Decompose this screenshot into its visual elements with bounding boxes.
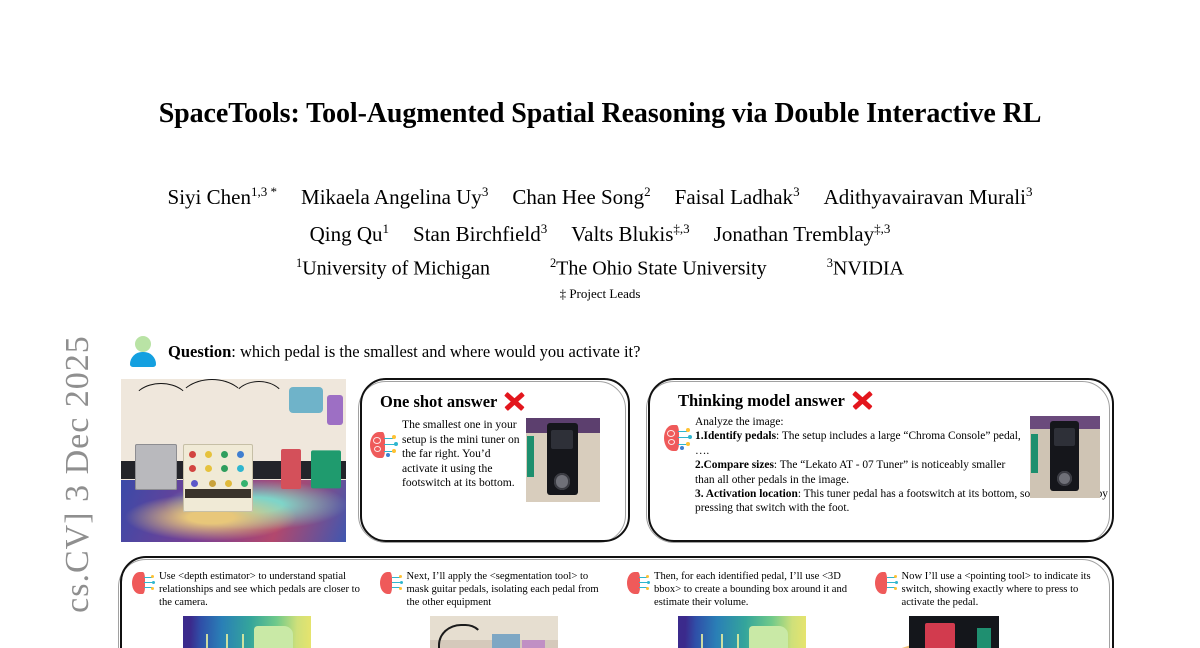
author-row-2: Qing Qu1Stan Birchfield3Valts Blukis‡,3J… <box>0 213 1200 250</box>
circuit-node <box>394 442 398 446</box>
pedal-red <box>281 449 301 489</box>
tuner-screen <box>551 430 573 449</box>
step-label: 1.Identify pedals <box>695 430 776 442</box>
brain-lobe <box>370 432 385 458</box>
circuit-node <box>894 575 897 578</box>
circuit-node <box>686 442 690 446</box>
brain-icon <box>875 572 897 594</box>
tuner-device <box>1050 421 1079 492</box>
tool-text: Then, for each identified pedal, I’ll us… <box>654 570 857 610</box>
tuner-photo <box>1030 416 1100 498</box>
circuit-node <box>895 581 898 584</box>
affiliation: 2The Ohio State University <box>550 256 767 281</box>
author-list: Siyi Chen1,3 *Mikaela Angelina Uy3Chan H… <box>0 176 1200 250</box>
brain-icon <box>627 572 649 594</box>
step-label: 2.Compare sizes <box>695 459 774 471</box>
streak <box>721 634 723 648</box>
thinking-text: Analyze the image: 1.Identify pedals: Th… <box>695 415 1025 516</box>
knob <box>221 451 228 458</box>
one-shot-title: One shot answer <box>380 392 497 411</box>
one-shot-body: The smallest one in your setup is the mi… <box>362 414 628 502</box>
knob <box>241 480 248 487</box>
affiliation-list: 1University of Michigan2The Ohio State U… <box>0 256 1200 281</box>
tuner-footswitch <box>1057 471 1072 486</box>
pointing-image <box>909 616 999 648</box>
streak <box>226 634 228 648</box>
thinking-intro: Analyze the image: <box>695 415 1025 429</box>
pedal-chroma-console <box>183 444 253 512</box>
tool-step-pointing: Now I’ll use a <pointing tool> to indica… <box>865 558 1113 648</box>
step-label: 3. Activation location <box>695 488 798 500</box>
knob <box>205 451 212 458</box>
affiliation: 1University of Michigan <box>296 256 490 281</box>
knob <box>189 465 196 472</box>
tool-head: Now I’ll use a <pointing tool> to indica… <box>875 570 1105 610</box>
question-label: Question <box>168 342 231 361</box>
author: Jonathan Tremblay‡,3 <box>714 222 891 246</box>
page-title: SpaceTools: Tool-Augmented Spatial Reaso… <box>0 98 1200 130</box>
question-body: : which pedal is the smallest and where … <box>231 342 640 361</box>
circuit-node <box>646 587 649 590</box>
segment-mask <box>522 640 545 648</box>
author: Adithyavairavan Murali3 <box>824 185 1033 209</box>
thinking-title: Thinking model answer <box>678 391 845 410</box>
tool-step-bbox: Then, for each identified pedal, I’ll us… <box>617 558 865 648</box>
green-strip <box>1031 434 1037 473</box>
circuit-node <box>646 575 649 578</box>
author: Qing Qu1 <box>310 222 389 246</box>
red-x-icon <box>501 388 527 414</box>
thinking-model-answer-card: Thinking model answer Analyze the image:… <box>648 378 1114 542</box>
depth-map-image <box>678 616 806 648</box>
streak <box>701 634 703 648</box>
tool-head: Use <depth estimator> to understand spat… <box>132 570 362 610</box>
tool-text: Now I’ll use a <pointing tool> to indica… <box>902 570 1105 610</box>
brain-fold <box>373 437 381 444</box>
circuit-node <box>647 581 650 584</box>
tool-grid: Use <depth estimator> to understand spat… <box>122 558 1112 648</box>
segmentation-image <box>430 616 558 648</box>
one-shot-answer-card: One shot answer The smallest one in your… <box>360 378 630 542</box>
tool-text: Next, I’ll apply the <segmentation tool>… <box>407 570 610 610</box>
pedal-teal-box <box>289 387 323 413</box>
brain-icon <box>370 432 396 458</box>
display-strip <box>185 489 251 498</box>
segment-blob <box>749 626 787 648</box>
affiliation: 3NVIDIA <box>827 256 904 281</box>
segment-mask <box>492 634 520 648</box>
question-row: Question: which pedal is the smallest an… <box>128 336 640 368</box>
author: Chan Hee Song2 <box>512 185 650 209</box>
knob <box>221 465 228 472</box>
tool-text: Use <depth estimator> to understand spat… <box>159 570 362 610</box>
tuner-screen <box>1054 428 1075 446</box>
author: Valts Blukis‡,3 <box>571 222 689 246</box>
circuit-node <box>152 581 155 584</box>
thinking-header: Thinking model answer <box>650 380 1112 413</box>
knob <box>189 451 196 458</box>
knob <box>191 480 198 487</box>
pedalboard-photo <box>121 379 346 542</box>
brain-icon <box>380 572 402 594</box>
user-avatar-icon <box>128 336 158 368</box>
pedal-silver <box>135 444 177 490</box>
streak <box>242 634 244 648</box>
green-strip <box>977 628 991 648</box>
brain-fold <box>374 446 381 452</box>
knob <box>205 465 212 472</box>
streak <box>737 634 739 648</box>
pedal-green <box>311 450 341 488</box>
circuit-node <box>399 575 402 578</box>
knob <box>209 480 216 487</box>
tool-chain-card: Use <depth estimator> to understand spat… <box>120 556 1114 648</box>
circuit-node <box>392 435 396 439</box>
one-shot-header: One shot answer <box>362 380 628 414</box>
project-leads-footnote: ‡ Project Leads <box>0 286 1200 302</box>
brain-lobe <box>627 572 640 594</box>
circuit-node <box>894 587 897 590</box>
tuner-photo <box>526 418 600 502</box>
author: Faisal Ladhak3 <box>675 185 800 209</box>
segment-blob <box>254 626 292 648</box>
circuit-node <box>386 453 390 457</box>
circuit-node <box>151 575 154 578</box>
circuit-node <box>151 587 154 590</box>
depth-map-image <box>183 616 311 648</box>
author: Mikaela Angelina Uy3 <box>301 185 488 209</box>
circuit-node <box>686 428 690 432</box>
green-strip <box>527 436 534 476</box>
circuit-node <box>392 449 396 453</box>
avatar-body <box>130 352 156 367</box>
brain-lobe <box>380 572 393 594</box>
cable <box>231 381 287 427</box>
cable-outline <box>438 624 484 648</box>
author: Siyi Chen1,3 * <box>168 185 277 209</box>
arxiv-stamp: cs.CV] 3 Dec 2025 <box>59 304 97 644</box>
author-row-1: Siyi Chen1,3 *Mikaela Angelina Uy3Chan H… <box>0 176 1200 213</box>
brain-icon <box>664 425 690 451</box>
circuit-node <box>688 435 692 439</box>
brain-lobe <box>132 572 145 594</box>
paper-page: cs.CV] 3 Dec 2025 SpaceTools: Tool-Augme… <box>0 0 1200 648</box>
streak <box>206 634 208 648</box>
pedal-purple-box <box>327 395 343 425</box>
thinking-step: 1.Identify pedals: The setup includes a … <box>695 429 1025 458</box>
knob <box>237 465 244 472</box>
thinking-step: 2.Compare sizes: The “Lekato AT - 07 Tun… <box>695 458 1025 487</box>
tool-head: Then, for each identified pedal, I’ll us… <box>627 570 857 610</box>
pedal-highlight <box>925 623 956 648</box>
brain-icon <box>132 572 154 594</box>
question-text: Question: which pedal is the smallest an… <box>168 342 640 362</box>
circuit-node <box>400 581 403 584</box>
author: Stan Birchfield3 <box>413 222 547 246</box>
circuit-node <box>680 446 684 450</box>
tool-step-segmentation: Next, I’ll apply the <segmentation tool>… <box>370 558 618 648</box>
knob <box>225 480 232 487</box>
tool-head: Next, I’ll apply the <segmentation tool>… <box>380 570 610 610</box>
red-x-icon <box>849 387 875 413</box>
brain-lobe <box>664 425 679 451</box>
brain-fold <box>667 430 675 437</box>
avatar-head <box>135 336 151 352</box>
tuner-device <box>547 423 578 495</box>
brain-lobe <box>875 572 888 594</box>
brain-fold <box>668 439 675 445</box>
one-shot-text: The smallest one in your setup is the mi… <box>402 418 520 502</box>
tuner-footswitch <box>554 473 570 489</box>
circuit-node <box>399 587 402 590</box>
knob <box>237 451 244 458</box>
tool-step-depth: Use <depth estimator> to understand spat… <box>122 558 370 648</box>
